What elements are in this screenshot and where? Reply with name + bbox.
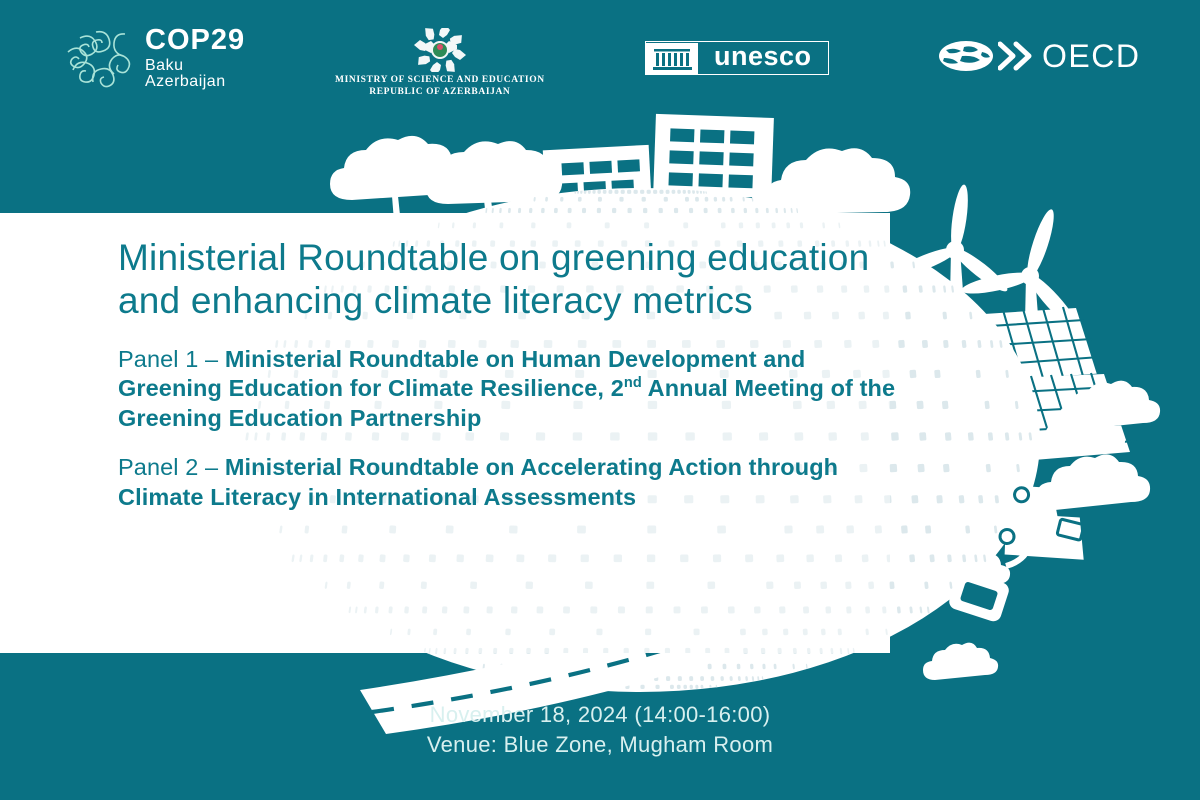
panel-1-ordinal-suffix: nd [624,375,642,391]
event-venue: Venue: Blue Zone, Mugham Room [0,730,1200,760]
panel-1-description: Panel 1 – Ministerial Roundtable on Huma… [118,345,908,434]
cop29-floral-emblem-icon [60,26,132,90]
event-date-time: November 18, 2024 (14:00-16:00) [0,700,1200,730]
logo-oecd-word: OECD [1042,40,1140,72]
logo-ministry-line2: Republic of Azerbaijan [369,87,510,99]
logo-bar: COP29 Baku Azerbaijan [0,0,1200,115]
azerbaijan-ministry-star-emblem-icon [405,28,475,72]
main-copy: Ministerial Roundtable on greening educa… [118,236,908,533]
logo-unesco: unesco [645,41,829,75]
panel-2-lead: Panel 2 – [118,454,225,480]
logo-cop29-line3: Azerbaijan [145,74,245,90]
event-details: November 18, 2024 (14:00-16:00) Venue: B… [0,700,1200,759]
panel-2-description: Panel 2 – Ministerial Roundtable on Acce… [118,453,908,512]
event-poster: COP29 Baku Azerbaijan [0,0,1200,800]
page-title: Ministerial Roundtable on greening educa… [118,236,908,323]
panel-2-bold-a: Ministerial Roundtable on Accelerating A… [118,454,838,510]
logo-cop29-line2: Baku [145,58,245,74]
logo-oecd: OECD [938,40,1140,72]
logo-unesco-word: unesco [698,43,828,73]
logo-cop29-line1: COP29 [145,26,245,55]
logo-ministry: Ministry of Science and Education Republ… [335,28,545,99]
oecd-chevrons-icon [998,41,1034,71]
oecd-globe-icon [938,40,994,72]
logo-ministry-line1: Ministry of Science and Education [335,75,545,87]
panel-1-lead: Panel 1 – [118,346,225,372]
unesco-temple-icon [646,43,698,74]
logo-cop29: COP29 Baku Azerbaijan [60,26,245,90]
